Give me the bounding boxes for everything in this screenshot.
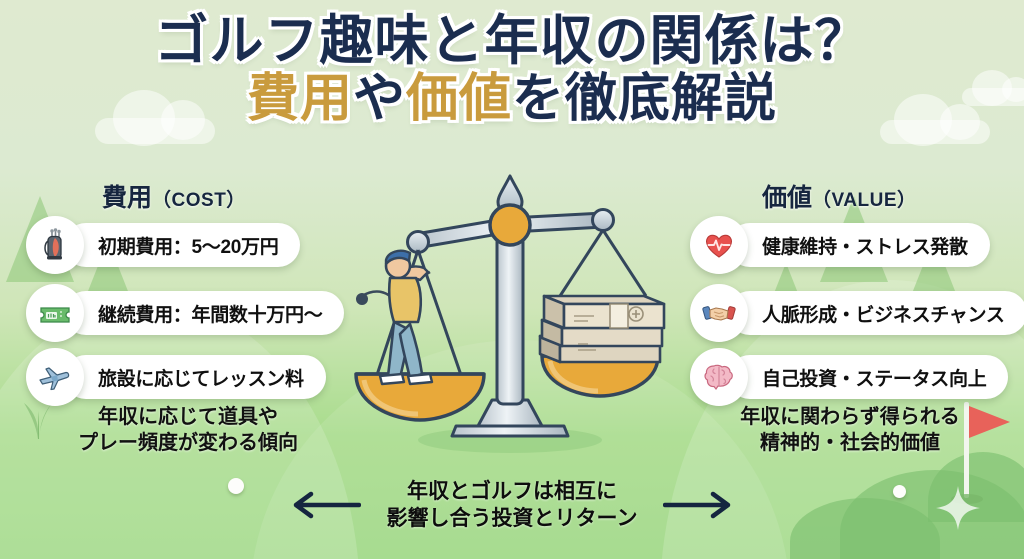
balance-scale-illustration [338, 168, 688, 458]
cost-item-row[interactable]: 旅設に応じてレッスン料 [26, 354, 326, 400]
cost-item-badge [26, 348, 84, 406]
value-caption-line-2: 精神的・社会的価値 [700, 430, 1000, 456]
value-item-badge [690, 284, 748, 342]
golfer-figure [356, 251, 432, 384]
value-item-pill: 自己投資・ステータス向上 [728, 355, 1008, 399]
value-item-label: 健康維持・ストレス発散 [762, 232, 968, 259]
value-item-badge [690, 348, 748, 406]
arrow-right-icon [663, 490, 735, 520]
cost-item-badge [26, 216, 84, 274]
value-item-pill: 健康維持・ストレス発散 [728, 223, 990, 267]
title-segment-ya: や [353, 70, 406, 128]
value-heading-en: （VALUE） [812, 190, 916, 211]
value-item-pill: 人脈形成・ビジネスチャンス [728, 291, 1024, 335]
cost-item-pill: 旅設に応じてレッスン料 [64, 355, 326, 399]
bottom-line-2: 影響し合う投資とリターン [387, 505, 638, 532]
value-heading-jp: 価値 [762, 184, 812, 212]
cost-item-row[interactable]: 継続費用：年間数十万円〜 [26, 290, 344, 336]
cost-caption-line-1: 年収に応じて道具や [38, 404, 338, 430]
handshake-icon [702, 296, 736, 330]
cost-item-label: 初期費用：5〜20万円 [98, 232, 278, 259]
arrow-left-icon [289, 490, 361, 520]
cost-caption-line-2: プレー頻度が変わる傾向 [38, 430, 338, 456]
heart-pulse-icon [702, 228, 736, 262]
title-segment-value: 価値 [406, 70, 512, 128]
brain-icon [702, 360, 736, 394]
cost-heading-en: （COST） [152, 190, 246, 211]
bottom-banner: 年収とゴルフは相互に 影響し合う投資とリターン [0, 478, 1024, 533]
cost-item-pill: 初期費用：5〜20万円 [64, 223, 300, 267]
value-item-row[interactable]: 健康維持・ストレス発散 [690, 222, 990, 268]
cost-item-label: 旅設に応じてレッスン料 [98, 364, 304, 391]
page-title: ゴルフ趣味と年収の関係は？ 費用や価値を徹底解説 [0, 14, 1024, 126]
cost-column-heading: 費用（COST） [102, 178, 246, 214]
title-line-1: ゴルフ趣味と年収の関係は？ [0, 14, 1024, 69]
value-item-row[interactable]: 人脈形成・ビジネスチャンス [690, 290, 1024, 336]
title-segment-cost: 費用 [247, 70, 353, 128]
ticket-icon [38, 296, 72, 330]
title-segment-tail: を徹底解説 [512, 70, 777, 128]
value-column-heading: 価値（VALUE） [762, 178, 917, 214]
cost-caption: 年収に応じて道具や プレー頻度が変わる傾向 [38, 404, 338, 457]
cost-item-row[interactable]: 初期費用：5〜20万円 [26, 222, 300, 268]
bottom-banner-text: 年収とゴルフは相互に 影響し合う投資とリターン [387, 478, 638, 533]
value-caption: 年収に関わらず得られる 精神的・社会的価値 [700, 404, 1000, 457]
title-line-2: 費用や価値を徹底解説 [0, 73, 1024, 126]
cost-heading-jp: 費用 [102, 184, 152, 212]
golf-bag-icon [38, 228, 72, 262]
value-item-badge [690, 216, 748, 274]
cost-item-pill: 継続費用：年間数十万円〜 [64, 291, 344, 335]
bottom-line-1: 年収とゴルフは相互に [387, 478, 638, 505]
value-item-label: 自己投資・ステータス向上 [762, 364, 986, 391]
airplane-icon [38, 360, 72, 394]
cost-item-badge [26, 284, 84, 342]
value-item-row[interactable]: 自己投資・ステータス向上 [690, 354, 1008, 400]
infographic-canvas: ゴルフ趣味と年収の関係は？ 費用や価値を徹底解説 費用（COST） 価値（VAL… [0, 0, 1024, 559]
cost-item-label: 継続費用：年間数十万円〜 [98, 300, 322, 327]
money-stack [540, 296, 664, 362]
value-item-label: 人脈形成・ビジネスチャンス [762, 300, 1005, 327]
value-caption-line-1: 年収に関わらず得られる [700, 404, 1000, 430]
